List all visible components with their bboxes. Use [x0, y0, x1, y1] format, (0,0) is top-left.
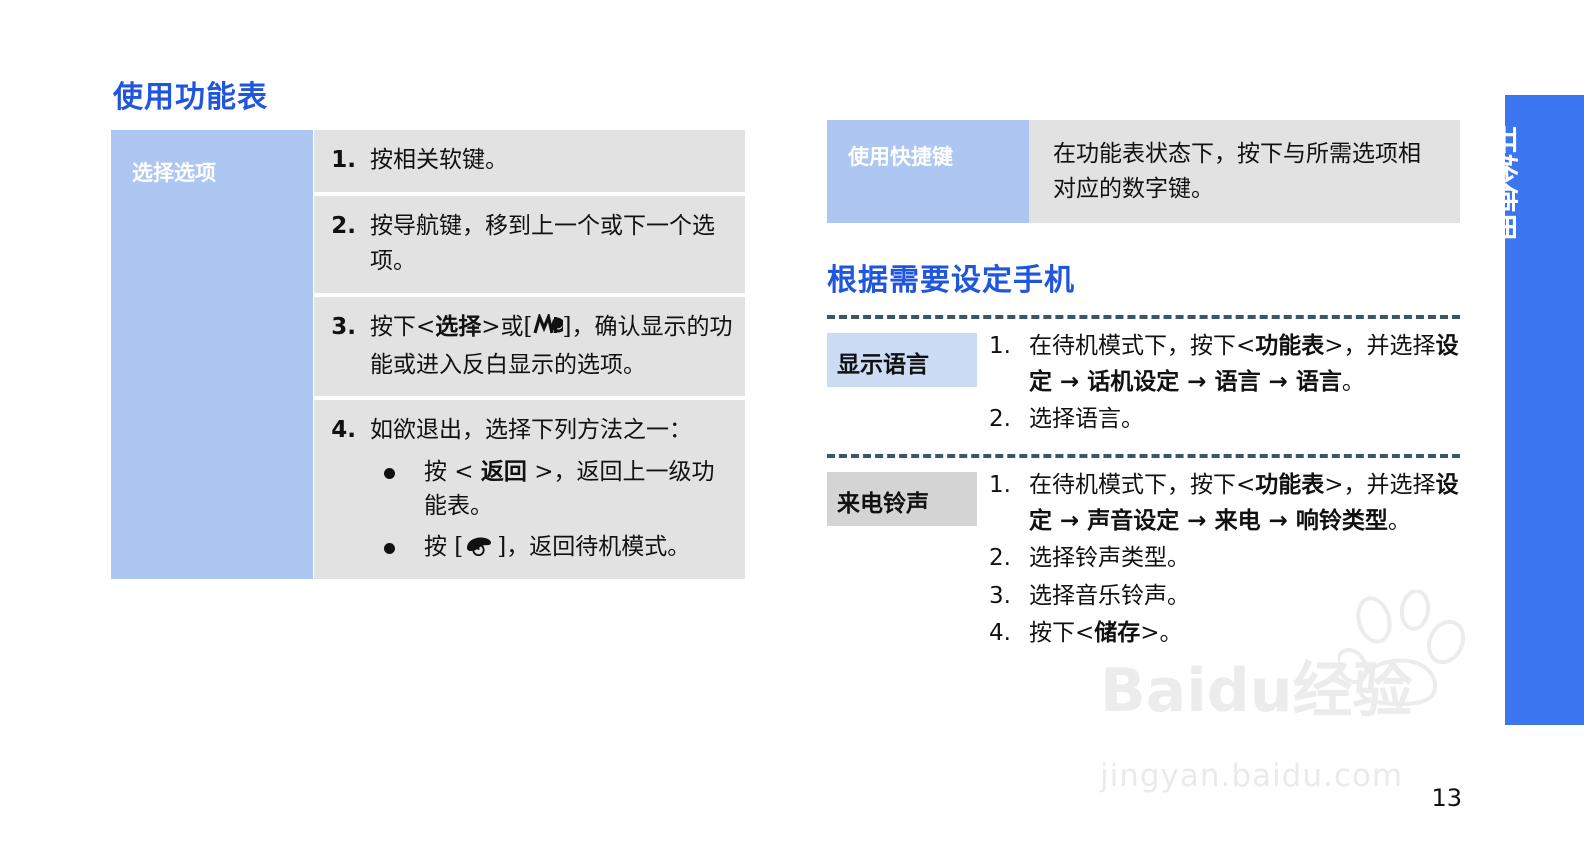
setting-step: 1. 在待机模式下，按下<功能表>，并选择设定 → 话机设定 → 语言 → 语言…	[989, 329, 1460, 400]
step-number: 4.	[989, 616, 1029, 652]
step-number: 2.	[989, 402, 1029, 438]
setting-steps: 1. 在待机模式下，按下<功能表>，并选择设定 → 话机设定 → 语言 → 语言…	[977, 329, 1460, 440]
bullet-suffix: ]，返回待机模式。	[497, 534, 690, 560]
setting-block-display-language: 显示语言 1. 在待机模式下，按下<功能表>，并选择设定 → 话机设定 → 语言…	[827, 329, 1460, 440]
step-text: 选择铃声类型。	[1029, 541, 1460, 577]
right-column: 使用快捷键 在功能表状态下，按下与所需选项相对应的数字键。 根据需要设定手机 显…	[827, 120, 1460, 668]
shortcut-note-box: 使用快捷键 在功能表状态下，按下与所需选项相对应的数字键。	[827, 120, 1460, 223]
shortcut-note-body: 在功能表状态下，按下与所需选项相对应的数字键。	[1029, 120, 1460, 223]
step-text: 选择音乐铃声。	[1029, 579, 1460, 615]
page-title-left: 使用功能表	[113, 72, 747, 116]
step-text: 按导航键，移到上一个或下一个选项。	[370, 209, 737, 280]
section-divider	[827, 454, 1460, 458]
menu-usage-table: 选择选项 1. 按相关软键。 2. 按导航键，移到上一个或下一个选项。 3. 按…	[111, 130, 745, 579]
center-select-key-icon	[533, 312, 563, 348]
setting-tag: 显示语言	[827, 333, 977, 387]
bullet-dot-icon	[384, 543, 395, 554]
softkey-name-back: 返回	[481, 459, 527, 485]
step-number: 1.	[989, 468, 1029, 539]
section-divider	[827, 315, 1460, 319]
bullet-prefix: 按 [	[424, 534, 463, 560]
exit-options-list: 按 < 返回 >，返回上一级功能表。 按 []，返回待机模式。	[370, 455, 737, 567]
section-side-tab: 开始使用	[1505, 95, 1584, 725]
left-column: 使用功能表 选择选项 1. 按相关软键。 2. 按导航键，移到上一个或下一个选项…	[111, 72, 747, 579]
bullet-dot-icon	[384, 468, 395, 479]
table-label-text: 选择选项	[111, 130, 313, 187]
watermark-url: jingyan.baidu.com	[1100, 758, 1403, 794]
step-text: 如欲退出，选择下列方法之一： 按 < 返回 >，返回上一级功能表。 按 []，返…	[370, 413, 737, 566]
table-row: 3. 按下<选择>或[]，确认显示的功能或进入反白显示的选项。	[314, 297, 745, 396]
softkey-name-select: 选择	[435, 314, 481, 340]
setting-step: 2. 选择语言。	[989, 402, 1460, 438]
setting-block-incoming-ringtone: 来电铃声 1. 在待机模式下，按下<功能表>，并选择设定 → 声音设定 → 来电…	[827, 468, 1460, 654]
step-text: 按下<选择>或[]，确认显示的功能或进入反白显示的选项。	[370, 310, 737, 383]
manual-page: 使用功能表 选择选项 1. 按相关软键。 2. 按导航键，移到上一个或下一个选项…	[0, 0, 1584, 860]
setting-step: 3. 选择音乐铃声。	[989, 579, 1460, 615]
step-number: 3.	[989, 579, 1029, 615]
page-number: 13	[1431, 784, 1462, 812]
table-rows: 1. 按相关软键。 2. 按导航键，移到上一个或下一个选项。 3. 按下<选择>…	[314, 130, 745, 579]
step-text-mid: >或[	[481, 314, 532, 340]
setting-tag: 来电铃声	[827, 472, 977, 526]
shortcut-note-label: 使用快捷键	[827, 120, 1029, 223]
step-number: 2.	[314, 209, 370, 280]
setting-step: 1. 在待机模式下，按下<功能表>，并选择设定 → 声音设定 → 来电 → 响铃…	[989, 468, 1460, 539]
setting-step: 4. 按下<储存>。	[989, 616, 1460, 652]
step-text: 按相关软键。	[370, 143, 737, 179]
step-text-prefix: 按下<	[370, 314, 435, 340]
step-number: 1.	[989, 329, 1029, 400]
setting-steps: 1. 在待机模式下，按下<功能表>，并选择设定 → 声音设定 → 来电 → 响铃…	[977, 468, 1460, 654]
step-text: 在待机模式下，按下<功能表>，并选择设定 → 话机设定 → 语言 → 语言。	[1029, 329, 1460, 400]
step-text-lead: 如欲退出，选择下列方法之一：	[370, 417, 692, 443]
step-text: 在待机模式下，按下<功能表>，并选择设定 → 声音设定 → 来电 → 响铃类型。	[1029, 468, 1460, 539]
step-number: 2.	[989, 541, 1029, 577]
step-number: 1.	[314, 143, 370, 179]
bullet-prefix: 按 <	[424, 459, 481, 485]
list-item: 按 < 返回 >，返回上一级功能表。	[370, 455, 737, 524]
list-item: 按 []，返回待机模式。	[370, 530, 737, 567]
step-text: 按下<储存>。	[1029, 616, 1460, 652]
end-call-key-icon	[463, 532, 497, 567]
step-number: 3.	[314, 310, 370, 383]
table-row: 4. 如欲退出，选择下列方法之一： 按 < 返回 >，返回上一级功能表。 按 […	[314, 400, 745, 579]
side-tab-label: 开始使用	[1487, 125, 1519, 175]
page-title-right: 根据需要设定手机	[827, 255, 1460, 299]
table-row: 2. 按导航键，移到上一个或下一个选项。	[314, 196, 745, 293]
step-number: 4.	[314, 413, 370, 566]
table-label-column: 选择选项	[111, 130, 313, 579]
step-text: 选择语言。	[1029, 402, 1460, 438]
setting-step: 2. 选择铃声类型。	[989, 541, 1460, 577]
table-row: 1. 按相关软键。	[314, 130, 745, 192]
